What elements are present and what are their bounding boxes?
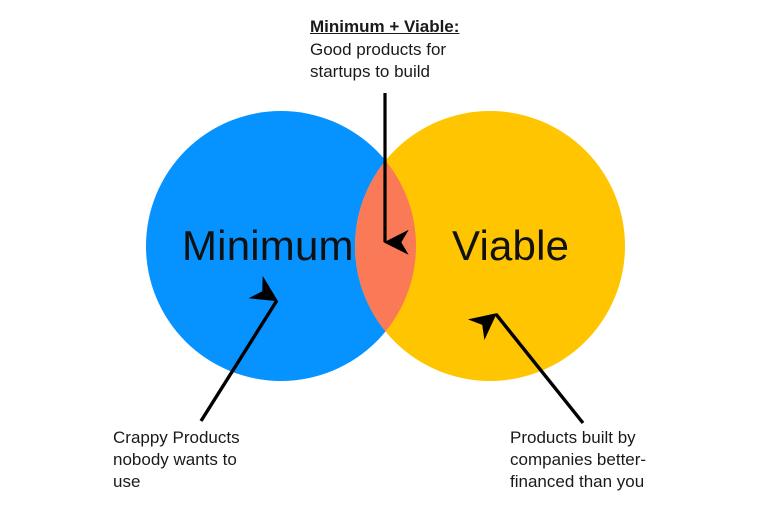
- annotation-viable-line-1: Products built by: [510, 427, 710, 449]
- annotation-minimum-line-1: Crappy Products: [113, 427, 303, 449]
- venn-diagram-canvas: Minimum Viable Minimum + Viable: Good pr…: [0, 0, 768, 516]
- annotation-intersection-line-1: Good products for: [310, 39, 520, 61]
- venn-label-minimum: Minimum: [182, 222, 354, 270]
- annotation-viable-line-3: financed than you: [510, 471, 710, 493]
- annotation-intersection: Minimum + Viable: Good products for star…: [310, 16, 520, 83]
- annotation-viable: Products built by companies better- fina…: [510, 427, 710, 493]
- annotation-intersection-title: Minimum + Viable:: [310, 16, 520, 38]
- venn-label-viable: Viable: [452, 222, 569, 270]
- annotation-minimum: Crappy Products nobody wants to use: [113, 427, 303, 493]
- annotation-minimum-line-2: nobody wants to: [113, 449, 303, 471]
- annotation-intersection-line-2: startups to build: [310, 61, 520, 83]
- annotation-minimum-line-3: use: [113, 471, 303, 493]
- annotation-viable-line-2: companies better-: [510, 449, 710, 471]
